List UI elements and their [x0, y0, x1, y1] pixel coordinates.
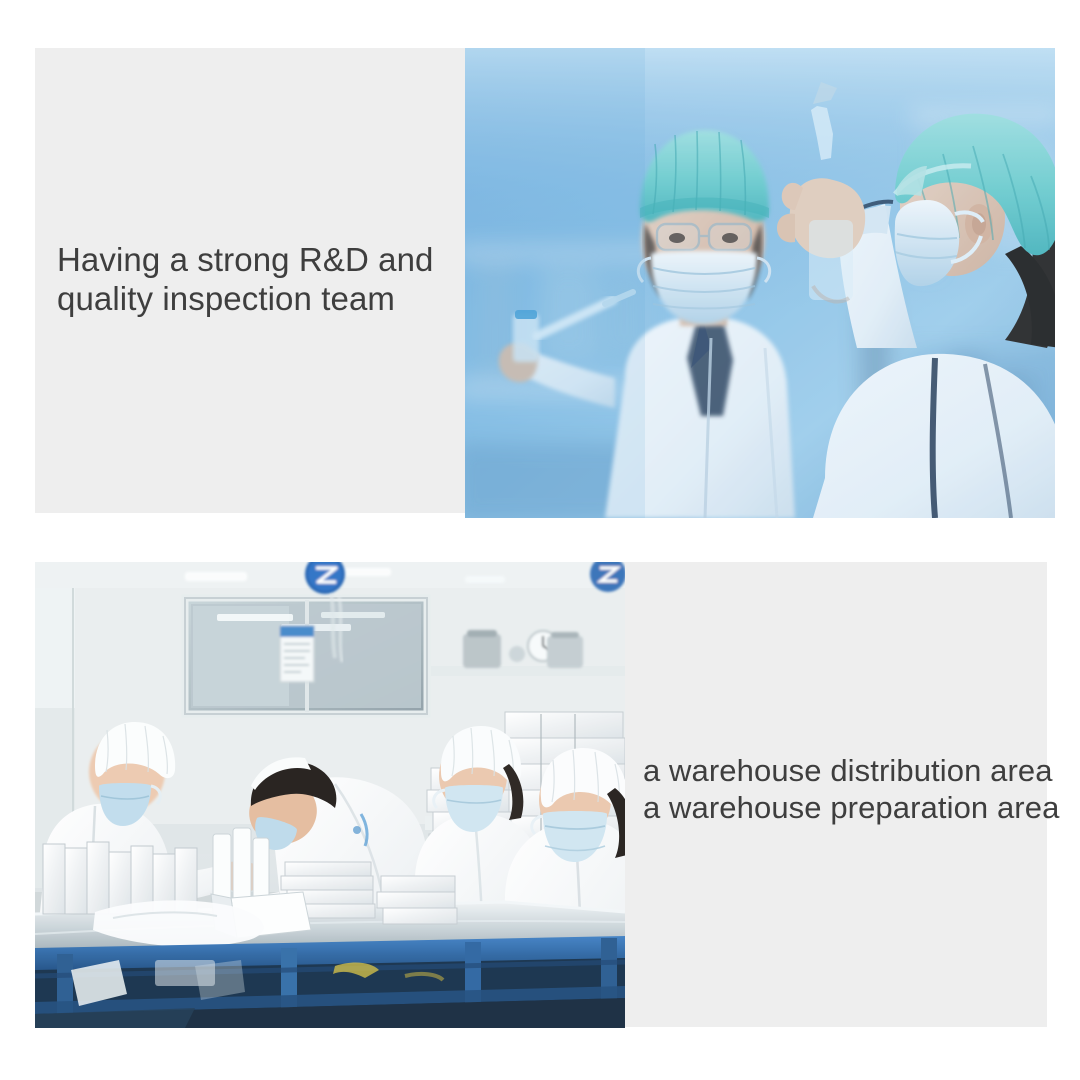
page-root: Having a strong R&D and quality inspecti…: [0, 0, 1080, 1080]
rd-quality-inspection-lab-photo: [465, 48, 1055, 518]
section-rd-quality: Having a strong R&D and quality inspecti…: [0, 0, 1080, 540]
warehouse-packing-area-photo: [35, 562, 625, 1028]
top-caption-text: Having a strong R&D and quality inspecti…: [57, 240, 457, 318]
lab-photo-illustration: [465, 48, 1055, 518]
section-warehouse: a warehouse distribution area a warehous…: [0, 540, 1080, 1080]
warehouse-photo-illustration: [35, 562, 625, 1028]
bottom-caption-text: a warehouse distribution area a warehous…: [643, 752, 1063, 826]
